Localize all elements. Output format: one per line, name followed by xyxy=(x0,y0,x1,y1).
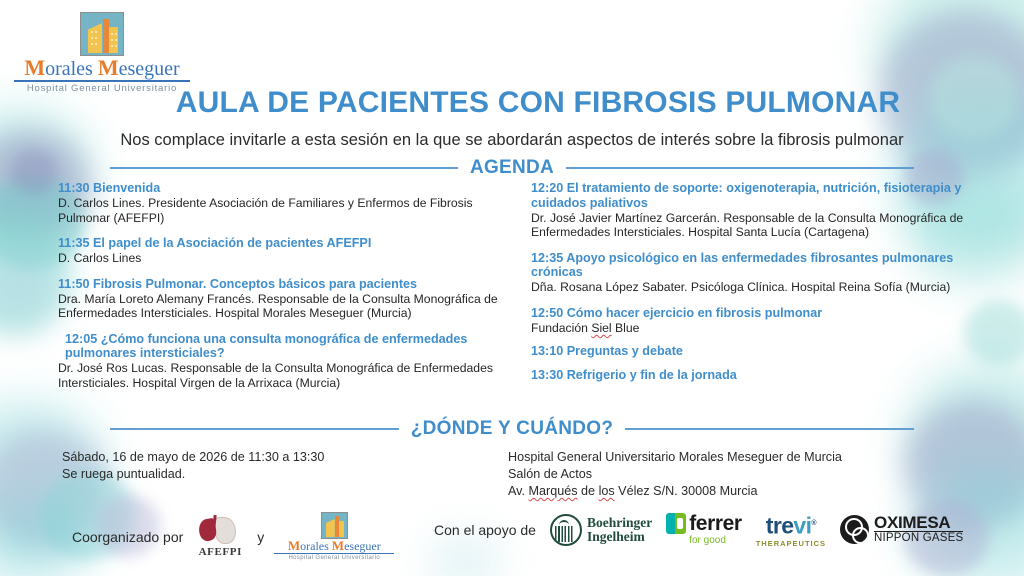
event-date-block: Sábado, 16 de mayo de 2026 de 11:30 a 13… xyxy=(62,449,462,483)
afefpi-logo-name: AFEFPI xyxy=(193,546,247,558)
sponsors-block: Con el apoyo de Boehringer Ingelheim fer… xyxy=(434,512,963,548)
address-misspelled-los: los xyxy=(599,484,615,498)
venue-address: Av. Marqués de los Vélez S/N. 30008 Murc… xyxy=(508,483,938,500)
coorganizers-block: Coorganizado por AFEFPI y Morales Mesegu… xyxy=(72,512,394,561)
mm-footer-m1: M xyxy=(288,538,300,553)
address-mid: de xyxy=(578,484,599,498)
event-punctuality-note: Se ruega puntualidad. xyxy=(62,466,462,483)
ferrer-wordmark: ferrer xyxy=(689,513,741,534)
agenda-item-title: 11:30 Bienvenida xyxy=(58,181,503,196)
event-date: Sábado, 16 de mayo de 2026 de 11:30 a 13… xyxy=(62,449,462,466)
event-venue-block: Hospital General Universitario Morales M… xyxy=(508,449,938,500)
agenda-item-description: Dr. José Ros Lucas. Responsable de la Co… xyxy=(58,361,503,390)
address-suffix: Vélez S/N. 30008 Murcia xyxy=(615,484,758,498)
agenda-list: 11:30 Bienvenida D. Carlos Lines. Presid… xyxy=(58,181,976,391)
agenda-item: 12:35 Apoyo psicológico en las enfermeda… xyxy=(531,251,976,295)
agenda-item: 11:35 El papel de la Asociación de pacie… xyxy=(58,236,503,266)
agenda-item-title: 12:50 Cómo hacer ejercicio en fibrosis p… xyxy=(531,306,976,321)
boehringer-wordmark: Boehringer Ingelheim xyxy=(587,516,652,544)
coorganized-label: Coorganizado por xyxy=(72,529,183,545)
mm-footer-orales: orales xyxy=(300,539,332,553)
boehringer-line2: Ingelheim xyxy=(587,530,652,544)
hospital-logo-name-eseguer: eseguer xyxy=(119,58,180,80)
oximesa-subline: NIPPON GASES xyxy=(874,532,963,545)
agenda-item-title: 11:35 El papel de la Asociación de pacie… xyxy=(58,236,503,251)
trevi-wordmark: trevi® xyxy=(756,512,826,538)
ferrer-tagline: for good xyxy=(689,535,726,546)
agenda-item: 12:20 El tratamiento de soporte: oxigeno… xyxy=(531,181,976,240)
oximesa-sphere-icon xyxy=(840,515,869,544)
oximesa-wordmark: OXIMESA xyxy=(874,514,963,532)
agenda-section-header: AGENDA xyxy=(110,157,914,179)
trevi-logo: trevi® THERAPEUTICS xyxy=(756,512,826,548)
foundation-prefix: Fundación xyxy=(531,321,591,335)
afefpi-lungs-icon xyxy=(193,515,247,545)
trevi-trademark: ® xyxy=(811,520,816,527)
agenda-item-description: Dra. María Loreto Alemany Francés. Respo… xyxy=(58,292,503,321)
trevi-wordmark-part2: vi xyxy=(793,513,811,539)
oximesa-logo: OXIMESA NIPPON GASES xyxy=(840,514,963,545)
page-title: AULA DE PACIENTES CON FIBROSIS PULMONAR xyxy=(0,86,1024,120)
agenda-item-description: D. Carlos Lines. Presidente Asociación d… xyxy=(58,196,503,225)
ferrer-logo: ferrer for good xyxy=(666,513,741,546)
divider-line-right xyxy=(566,167,914,169)
hospital-logo-name-orales: orales xyxy=(45,58,98,80)
morales-meseguer-footer-logo: Morales Meseguer Hospital General Univer… xyxy=(274,512,394,561)
hospital-logo-name: Morales Meseguer xyxy=(14,58,190,79)
hospital-building-icon xyxy=(80,12,124,56)
agenda-label: AGENDA xyxy=(470,157,554,179)
mm-footer-subtitle: Hospital General Universitario xyxy=(274,555,394,561)
agenda-column-right: 12:20 El tratamiento de soporte: oxigeno… xyxy=(531,181,976,391)
divider-line-left xyxy=(110,167,458,169)
support-label: Con el apoyo de xyxy=(434,522,536,538)
boehringer-ingelheim-logo: Boehringer Ingelheim xyxy=(550,514,652,546)
agenda-item-title: 11:50 Fibrosis Pulmonar. Conceptos básic… xyxy=(58,277,503,292)
foundation-name-misspelled: Siel xyxy=(591,321,611,335)
poster-content: Morales Meseguer Hospital General Univer… xyxy=(0,0,1024,576)
agenda-item-description: Fundación Siel Blue xyxy=(531,321,976,336)
mm-footer-m2: M xyxy=(332,538,344,553)
mm-footer-eseguer: eseguer xyxy=(344,539,381,553)
divider-line-right xyxy=(625,428,914,430)
agenda-item: 13:30 Refrigerio y fin de la jornada xyxy=(531,368,976,383)
agenda-column-left: 11:30 Bienvenida D. Carlos Lines. Presid… xyxy=(58,181,503,391)
agenda-item: 12:05 ¿Cómo funciona una consulta monogr… xyxy=(58,332,503,391)
trevi-wordmark-part1: tre xyxy=(766,513,794,539)
boehringer-emblem-icon xyxy=(550,514,582,546)
hospital-building-icon xyxy=(321,512,348,539)
address-prefix: Av. xyxy=(508,484,529,498)
afefpi-logo: AFEFPI xyxy=(193,515,247,558)
foundation-suffix: Blue xyxy=(612,321,640,335)
when-where-label: ¿DÓNDE Y CUÁNDO? xyxy=(411,418,614,440)
agenda-item-title: 12:05 ¿Cómo funciona una consulta monogr… xyxy=(58,332,503,361)
page-subtitle: Nos complace invitarle a esta sesión en … xyxy=(0,131,1024,150)
mm-footer-divider xyxy=(274,553,394,554)
agenda-item-description: Dr. José Javier Martínez Garcerán. Respo… xyxy=(531,211,976,240)
agenda-item: 13:10 Preguntas y debate xyxy=(531,344,976,359)
and-label: y xyxy=(257,529,264,545)
address-misspelled-marques: Marqués xyxy=(529,484,578,498)
venue-room: Salón de Actos xyxy=(508,466,938,483)
agenda-item-title: 12:20 El tratamiento de soporte: oxigeno… xyxy=(531,181,976,210)
hospital-logo-divider xyxy=(14,80,190,82)
agenda-item-description: Dña. Rosana López Sabater. Psicóloga Clí… xyxy=(531,280,976,295)
trevi-tagline: THERAPEUTICS xyxy=(756,539,826,548)
agenda-item: 11:30 Bienvenida D. Carlos Lines. Presid… xyxy=(58,181,503,225)
hospital-logo: Morales Meseguer Hospital General Univer… xyxy=(14,12,190,94)
when-where-section-header: ¿DÓNDE Y CUÁNDO? xyxy=(110,418,914,440)
hospital-logo-name-m1: M xyxy=(24,55,45,80)
mm-footer-name: Morales Meseguer xyxy=(274,540,394,552)
agenda-item-title: 13:30 Refrigerio y fin de la jornada xyxy=(531,368,976,383)
hospital-logo-name-m2: M xyxy=(98,55,119,80)
venue-name: Hospital General Universitario Morales M… xyxy=(508,449,938,466)
poster-root: Morales Meseguer Hospital General Univer… xyxy=(0,0,1024,576)
agenda-item-description: D. Carlos Lines xyxy=(58,251,503,266)
boehringer-line1: Boehringer xyxy=(587,516,652,530)
divider-line-left xyxy=(110,428,399,430)
agenda-item-title: 12:35 Apoyo psicológico en las enfermeda… xyxy=(531,251,976,280)
agenda-item: 12:50 Cómo hacer ejercicio en fibrosis p… xyxy=(531,306,976,336)
agenda-item-title: 13:10 Preguntas y debate xyxy=(531,344,976,359)
agenda-item: 11:50 Fibrosis Pulmonar. Conceptos básic… xyxy=(58,277,503,321)
ferrer-mark-icon xyxy=(666,513,686,534)
